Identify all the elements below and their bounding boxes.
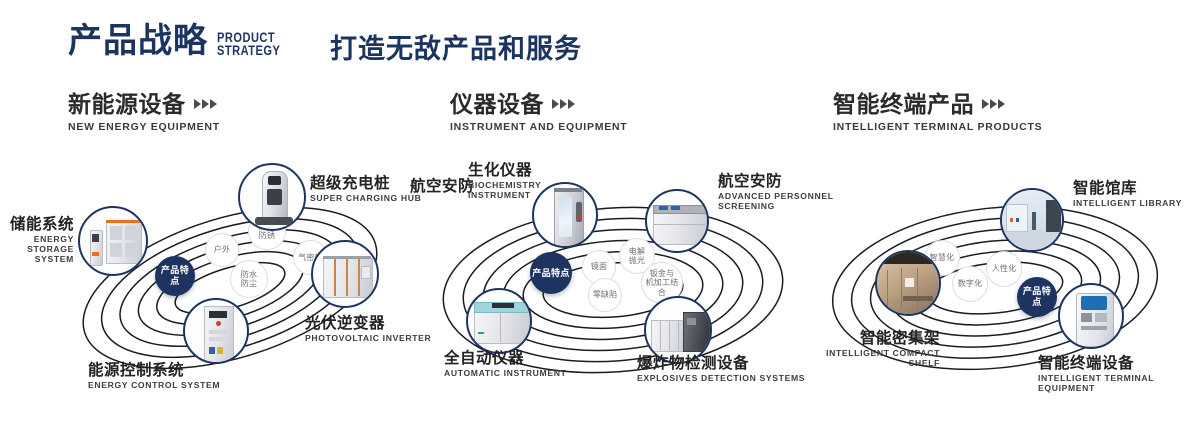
feature-bubble-label: 产品特点 [532, 268, 570, 279]
product-label-en: BIOCHEMISTRY INSTRUMENT [468, 181, 541, 200]
feature-bubble-label: 电解 抛光 [629, 247, 645, 266]
product-photo [313, 242, 377, 306]
product-node-automatic-instrument[interactable] [466, 288, 532, 354]
product-photo [1002, 190, 1062, 250]
product-node-intelligent-library[interactable] [1000, 188, 1064, 252]
product-label-cn: 超级充电桩 [310, 175, 422, 192]
feature-bubble: 人性化 [986, 251, 1022, 287]
feature-bubble: 户外 [205, 233, 239, 267]
group-header-instrument: 仪器设备 INSTRUMENT AND EQUIPMENT [450, 92, 627, 133]
feature-bubble-label: 零缺陷 [593, 290, 618, 299]
product-label-cn: 光伏逆变器 [305, 315, 431, 332]
feature-bubble-label: 数字化 [958, 279, 983, 288]
product-label-en: INTELLIGENT COMPACT SHELF [820, 349, 940, 368]
product-label-aviation-security-left: 航空安防 [410, 178, 474, 195]
product-label-intelligent-terminal-equipment: 智能终端设备 INTELLIGENT TERMINAL EQUIPMENT [1038, 355, 1200, 394]
product-photo [647, 191, 707, 251]
product-node-advanced-personnel-screening[interactable] [645, 189, 709, 253]
product-label-en: ENERGY CONTROL SYSTEM [88, 381, 220, 391]
masthead: 产品战略 PRODUCT STRATEGY [68, 24, 294, 58]
product-label-cn: 生化仪器 [468, 162, 541, 179]
chevron-right-icon [552, 99, 575, 109]
product-photo [185, 300, 247, 362]
feature-bubble-main: 产品特点 [530, 252, 572, 294]
product-label-energy-control-system: 能源控制系统 ENERGY CONTROL SYSTEM [88, 362, 220, 391]
group-header-en: NEW ENERGY EQUIPMENT [68, 121, 220, 133]
product-node-explosives-detection[interactable] [644, 296, 712, 364]
product-label-cn: 储能系统 [0, 216, 74, 233]
product-label-intelligent-compact-shelf: 智能密集架 INTELLIGENT COMPACT SHELF [820, 330, 940, 369]
product-label-cn: 能源控制系统 [88, 362, 220, 379]
chevron-right-icon [982, 99, 1005, 109]
group-header-en: INSTRUMENT AND EQUIPMENT [450, 121, 627, 133]
product-node-intelligent-compact-shelf[interactable] [875, 250, 941, 316]
product-node-super-charging-hub[interactable] [238, 163, 306, 231]
chevron-right-icon [194, 99, 217, 109]
product-label-cn: 智能密集架 [820, 330, 940, 347]
group-header-intelligent-terminal: 智能终端产品 INTELLIGENT TERMINAL PRODUCTS [833, 92, 1042, 133]
masthead-title-en: PRODUCT STRATEGY [217, 32, 280, 57]
group-header-new-energy: 新能源设备 NEW ENERGY EQUIPMENT [68, 92, 220, 133]
feature-bubble-label: 户外 [214, 245, 230, 254]
feature-bubble-label: 钣金与 机加工结合 [644, 269, 680, 297]
product-photo [534, 184, 596, 246]
product-label-en: PHOTOVOLTAIC INVERTER [305, 334, 431, 344]
product-photo [240, 165, 304, 229]
product-photo [1060, 285, 1122, 347]
product-photo [646, 298, 710, 362]
group-header-title: 新能源设备 [68, 92, 186, 116]
group-header-cn: 仪器设备 [450, 92, 627, 116]
product-label-explosives-detection: 爆炸物检测设备 EXPLOSIVES DETECTION SYSTEMS [637, 355, 805, 384]
product-label-en: AUTOMATIC INSTRUMENT [444, 369, 566, 379]
product-label-biochemistry-instrument: 生化仪器 BIOCHEMISTRY INSTRUMENT [468, 162, 541, 201]
feature-bubble: 零缺陷 [588, 278, 622, 312]
masthead-tagline: 打造无敌产品和服务 [330, 36, 582, 63]
product-node-energy-storage[interactable] [78, 206, 148, 276]
group-header-cn: 新能源设备 [68, 92, 220, 116]
product-strategy-infographic: 产品战略 PRODUCT STRATEGY 打造无敌产品和服务 新能源设备 NE… [0, 0, 1200, 422]
feature-bubble-label: 防水 防尘 [241, 270, 257, 289]
product-label-cn: 智能馆库 [1073, 180, 1182, 197]
product-node-intelligent-terminal-equipment[interactable] [1058, 283, 1124, 349]
product-node-biochemistry-instrument[interactable] [532, 182, 598, 248]
group-header-cn: 智能终端产品 [833, 92, 1042, 116]
group-header-title: 智能终端产品 [833, 92, 974, 116]
product-node-energy-control-system[interactable] [183, 298, 249, 364]
product-label-en: INTELLIGENT TERMINAL EQUIPMENT [1038, 374, 1200, 393]
product-label-photovoltaic-inverter: 光伏逆变器 PHOTOVOLTAIC INVERTER [305, 315, 431, 344]
product-label-energy-storage: 储能系统 ENERGY STORAGE SYSTEM [0, 216, 74, 264]
product-label-en: ENERGY STORAGE SYSTEM [0, 235, 74, 264]
product-label-cn: 全自动仪器 [444, 350, 566, 367]
product-label-intelligent-library: 智能馆库 INTELLIGENT LIBRARY [1073, 180, 1182, 209]
feature-bubble-label: 产品特点 [157, 265, 193, 286]
product-label-en: SUPER CHARGING HUB [310, 194, 422, 204]
group-header-en: INTELLIGENT TERMINAL PRODUCTS [833, 121, 1042, 133]
product-label-en: EXPLOSIVES DETECTION SYSTEMS [637, 374, 805, 384]
product-photo [877, 252, 939, 314]
product-photo [80, 208, 146, 274]
feature-bubble-label: 镜面 [591, 262, 607, 271]
product-label-cn: 爆炸物检测设备 [637, 355, 805, 372]
group-header-title: 仪器设备 [450, 92, 544, 116]
feature-bubble: 数字化 [952, 266, 988, 302]
masthead-title-cn: 产品战略 [68, 24, 208, 58]
product-label-en: INTELLIGENT LIBRARY [1073, 199, 1182, 209]
product-label-super-charging-hub: 超级充电桩 SUPER CHARGING HUB [310, 175, 422, 204]
product-label-cn: 航空安防 [410, 178, 474, 195]
feature-bubble-label: 人性化 [992, 264, 1017, 273]
feature-bubble-main: 产品特点 [1017, 277, 1057, 317]
masthead-title-en-line2: STRATEGY [217, 45, 280, 58]
feature-bubble-main: 产品特点 [155, 256, 195, 296]
product-photo [468, 290, 530, 352]
product-node-photovoltaic-inverter[interactable] [311, 240, 379, 308]
product-label-automatic-instrument: 全自动仪器 AUTOMATIC INSTRUMENT [444, 350, 566, 379]
feature-bubble-label: 产品特点 [1019, 286, 1055, 307]
product-label-cn: 智能终端设备 [1038, 355, 1200, 372]
feature-bubble: 防水 防尘 [230, 260, 268, 298]
